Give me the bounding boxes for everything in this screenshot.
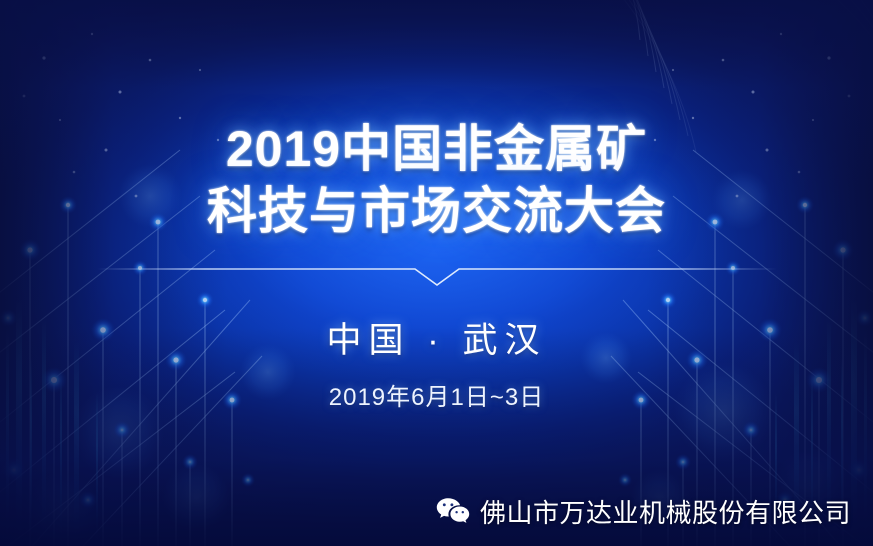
watermark-company-name: 佛山市万达业机械股份有限公司	[480, 493, 851, 530]
banner-content: 2019中国非金属矿 科技与市场交流大会	[0, 0, 873, 546]
title-line-2: 科技与市场交流大会	[207, 180, 666, 242]
wechat-icon	[436, 497, 470, 526]
title-block: 2019中国非金属矿 科技与市场交流大会	[207, 118, 666, 242]
location-text: 中国 · 武汉	[326, 312, 546, 363]
v-notch-divider-line	[97, 269, 777, 285]
date-text: 2019年6月1日~3日	[329, 377, 544, 412]
title-line-1: 2019中国非金属矿	[207, 118, 666, 180]
divider	[97, 258, 777, 292]
conference-banner: 2019中国非金属矿 科技与市场交流大会	[0, 0, 873, 546]
watermark: 佛山市万达业机械股份有限公司	[436, 493, 851, 530]
